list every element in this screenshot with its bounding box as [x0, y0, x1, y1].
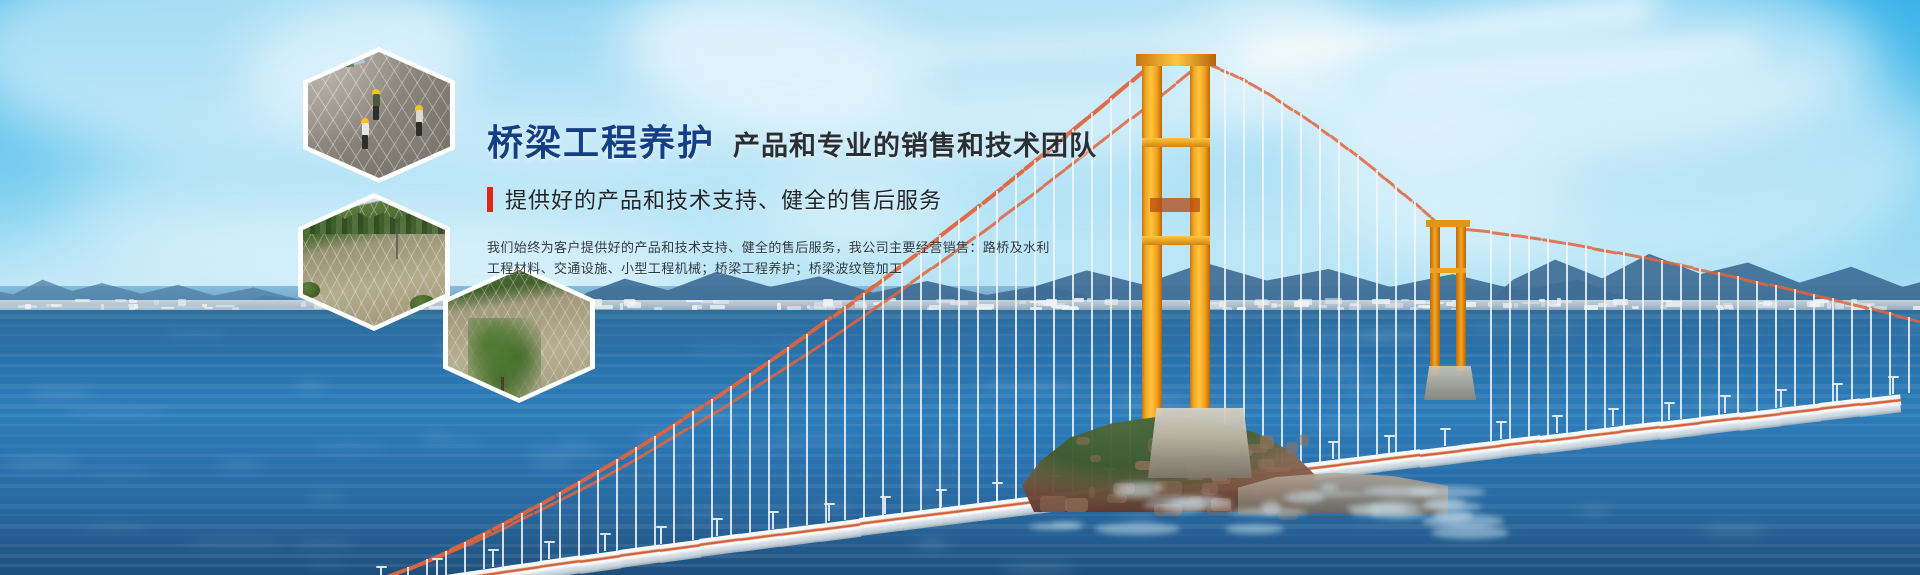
- sea-band: [0, 414, 1920, 417]
- water-foam-patch: [1113, 488, 1158, 498]
- photo-water-strip: [448, 390, 494, 398]
- sea-band: [0, 544, 1920, 547]
- shore-building: [1446, 302, 1453, 306]
- water-glint: [216, 461, 265, 468]
- water-glint: [293, 382, 328, 391]
- shore-building: [1488, 302, 1492, 307]
- water-foam-patch: [1370, 510, 1426, 519]
- water-glint: [82, 524, 148, 529]
- water-glint: [762, 341, 808, 345]
- island-rock: [1286, 442, 1298, 454]
- water-glint: [1468, 324, 1509, 332]
- shore-building: [1036, 302, 1050, 306]
- water-foam-patch: [1364, 486, 1438, 497]
- island-rock: [1299, 434, 1309, 446]
- shore-building: [1074, 298, 1084, 302]
- sea-band: [0, 504, 1920, 509]
- sea-band: [0, 404, 1920, 409]
- water-foam-patch: [1148, 496, 1221, 502]
- water-glint: [1277, 365, 1375, 376]
- slope-mesh-with-foreground-tree-image: [448, 270, 590, 398]
- banner-copy: 桥梁工程养护 产品和专业的销售和技术团队 提供好的产品和技术支持、健全的售后服务…: [487, 125, 1247, 279]
- subtitle-row: 提供好的产品和技术支持、健全的售后服务: [487, 183, 1247, 215]
- shore-building: [75, 299, 90, 302]
- water-glint: [66, 409, 168, 415]
- water-glint: [184, 539, 289, 545]
- utility-pole: [396, 223, 398, 259]
- sea-band: [0, 314, 1920, 319]
- water-glint: [307, 492, 346, 501]
- water-glint: [1617, 336, 1652, 343]
- shore-building: [1827, 303, 1831, 309]
- worker-legs: [362, 135, 368, 149]
- water-foam-patch: [1225, 524, 1284, 534]
- water-glint: [677, 512, 739, 518]
- shore-building: [129, 300, 137, 303]
- headline-secondary: 产品和专业的销售和技术团队: [733, 133, 1097, 160]
- shore-building: [154, 300, 159, 305]
- island-rock: [1202, 483, 1218, 495]
- water-glint: [1342, 384, 1373, 391]
- shore-building: [1188, 301, 1196, 304]
- water-glint: [1825, 355, 1900, 360]
- shore-building: [1258, 305, 1262, 308]
- worker-legs: [373, 106, 379, 120]
- island-rock: [1076, 437, 1090, 445]
- shore-building: [1550, 304, 1561, 307]
- shore-building: [1503, 303, 1512, 308]
- shore-building: [202, 304, 207, 307]
- shore-building: [1104, 300, 1108, 304]
- shore-building: [1401, 299, 1409, 301]
- shore-building: [710, 305, 725, 309]
- sea-band: [0, 534, 1920, 536]
- sea-band: [0, 554, 1920, 558]
- shore-building: [1815, 299, 1829, 303]
- hex-photo-3[interactable]: [443, 265, 595, 403]
- shore-building: [936, 299, 955, 303]
- sea-band: [0, 474, 1920, 477]
- water-glint: [75, 470, 153, 474]
- water-glint: [1721, 330, 1769, 334]
- shore-building: [1458, 302, 1476, 307]
- sea-band: [0, 344, 1920, 347]
- water-glint: [1578, 506, 1611, 516]
- shore-building: [204, 307, 213, 309]
- red-accent-bar: [487, 187, 493, 212]
- water-glint: [311, 445, 386, 450]
- shore-building: [701, 300, 718, 303]
- shore-building: [1385, 303, 1403, 308]
- shore-building: [1560, 300, 1572, 303]
- water-glint: [1680, 350, 1724, 355]
- island-rock: [1089, 487, 1095, 498]
- rope-access-workers-on-rock-slope-mesh-image: [308, 52, 450, 178]
- shore-building: [1851, 299, 1857, 304]
- water-glint: [908, 483, 938, 490]
- island-rock: [1258, 459, 1275, 469]
- water-glint: [812, 503, 851, 510]
- shore-building: [1051, 305, 1069, 308]
- shore-building: [1255, 299, 1268, 305]
- hex-photo-1[interactable]: [303, 47, 455, 183]
- water-foam-patch: [1228, 508, 1308, 516]
- water-glint: [635, 431, 686, 441]
- bridge-pier: [1148, 408, 1252, 478]
- water-foam-patch: [1431, 526, 1509, 539]
- shore-building: [1426, 302, 1444, 304]
- island-rock: [1090, 455, 1101, 462]
- water-foam-patch: [1424, 498, 1466, 508]
- shore-building: [1148, 301, 1153, 304]
- photo-tree-line: [303, 208, 445, 234]
- description-line-2: 工程材料、交通设施、小型工程机械；桥梁工程养护；桥梁波纹管加工: [487, 258, 917, 279]
- shore-building: [1632, 306, 1639, 309]
- water-glint: [557, 440, 592, 445]
- photo-sky-area: [308, 52, 365, 82]
- shore-building: [1514, 303, 1518, 308]
- shore-building: [1319, 305, 1327, 308]
- sea-band: [0, 444, 1920, 448]
- vegetated-slope-with-protection-mesh-image: [303, 198, 445, 326]
- water-glint: [29, 389, 95, 399]
- water-glint: [1000, 564, 1077, 574]
- shore-building: [1325, 298, 1342, 304]
- shore-building: [694, 305, 702, 309]
- description-line-1: 我们始终为客户提供好的产品和技术支持、健全的售后服务，我公司主要经营销售：路桥及…: [487, 237, 917, 258]
- photo-vegetation: [308, 52, 354, 67]
- bridge-far-pier: [1424, 366, 1476, 400]
- headline-primary: 桥梁工程养护: [487, 125, 715, 161]
- subtitle-text: 提供好的产品和技术支持、健全的售后服务: [505, 183, 942, 215]
- sea-band: [0, 454, 1920, 457]
- water-glint: [524, 449, 607, 457]
- water-glint: [915, 538, 949, 549]
- water-glint: [1695, 395, 1746, 405]
- water-glint: [684, 349, 769, 353]
- sea-band: [0, 514, 1920, 516]
- shore-building: [46, 304, 59, 307]
- water-glint: [162, 331, 231, 337]
- water-glint: [731, 444, 808, 448]
- water-foam-patch: [1300, 492, 1370, 496]
- foreground-tree: [468, 318, 541, 398]
- shore-building: [1835, 303, 1844, 309]
- water-foam-patch: [1433, 510, 1473, 522]
- water-glint: [535, 515, 569, 519]
- hero-banner: 桥梁工程养护 产品和专业的销售和技术团队 提供好的产品和技术支持、健全的售后服务…: [0, 0, 1920, 575]
- shore-building: [1209, 302, 1224, 309]
- sea-band: [0, 324, 1920, 327]
- shore-building: [178, 299, 186, 306]
- water-glint: [291, 540, 356, 546]
- shore-building: [978, 304, 994, 309]
- sea-band: [0, 524, 1920, 529]
- sea-band: [0, 484, 1920, 488]
- water-glint: [976, 382, 1078, 392]
- shore-building: [595, 305, 613, 309]
- description-paragraph: 我们始终为客户提供好的产品和技术支持、健全的售后服务，我公司主要经营销售：路桥及…: [487, 237, 917, 279]
- water-glint: [305, 562, 347, 566]
- water-glint: [1700, 525, 1769, 535]
- shore-building: [115, 299, 126, 302]
- sea-band: [0, 374, 1920, 377]
- shore-building: [1271, 303, 1277, 308]
- shore-building: [890, 298, 896, 301]
- shore-building: [161, 307, 174, 309]
- sea-band: [0, 364, 1920, 367]
- hex-photo-2[interactable]: [298, 193, 450, 331]
- sea-band: [0, 464, 1920, 469]
- shrub: [303, 282, 320, 298]
- sea-band: [0, 564, 1920, 567]
- sea-band: [0, 494, 1920, 496]
- headline-row: 桥梁工程养护 产品和专业的销售和技术团队: [487, 125, 1247, 161]
- shore-building: [1598, 303, 1607, 307]
- island-rock: [1040, 496, 1067, 512]
- water-glint: [1113, 396, 1189, 407]
- shore-building: [814, 302, 826, 309]
- shore-building: [873, 302, 880, 305]
- water-glint: [418, 433, 454, 438]
- shore-building: [1661, 300, 1672, 302]
- sea-band: [0, 394, 1920, 398]
- shore-building: [624, 299, 635, 306]
- shore-building: [1660, 305, 1667, 309]
- worker-legs: [416, 122, 422, 136]
- water-foam-patch: [1095, 523, 1180, 535]
- sea-band: [0, 384, 1920, 389]
- water-glint: [961, 336, 1061, 339]
- shore-building: [855, 302, 867, 308]
- sea-band: [0, 354, 1920, 357]
- shore-building: [1087, 298, 1091, 302]
- water-glint: [1302, 421, 1381, 431]
- water-glint: [927, 443, 952, 452]
- shore-building: [25, 304, 31, 309]
- shore-building: [777, 303, 781, 310]
- shore-building: [1019, 301, 1026, 304]
- water-glint: [768, 437, 864, 443]
- shore-building: [1418, 305, 1431, 308]
- shore-building: [1294, 301, 1309, 307]
- water-glint: [888, 382, 935, 387]
- island-rock: [1065, 498, 1088, 512]
- shrub: [410, 295, 436, 313]
- water-glint: [2, 457, 82, 468]
- water-foam-patch: [1320, 484, 1338, 491]
- shore-building: [1522, 302, 1540, 304]
- tree-trunk: [501, 377, 504, 398]
- water-glint: [956, 436, 981, 439]
- shore-building: [1415, 301, 1426, 304]
- shore-building: [1860, 303, 1875, 306]
- shore-building: [1758, 302, 1777, 308]
- water-glint: [531, 460, 573, 467]
- water-glint: [418, 441, 485, 446]
- water-foam-patch: [1029, 523, 1082, 530]
- shore-building: [620, 303, 623, 310]
- water-glint: [1288, 331, 1385, 342]
- water-glint: [1361, 391, 1407, 396]
- water-glint: [678, 411, 737, 419]
- shore-building: [1613, 299, 1628, 305]
- water-glint: [1593, 422, 1692, 430]
